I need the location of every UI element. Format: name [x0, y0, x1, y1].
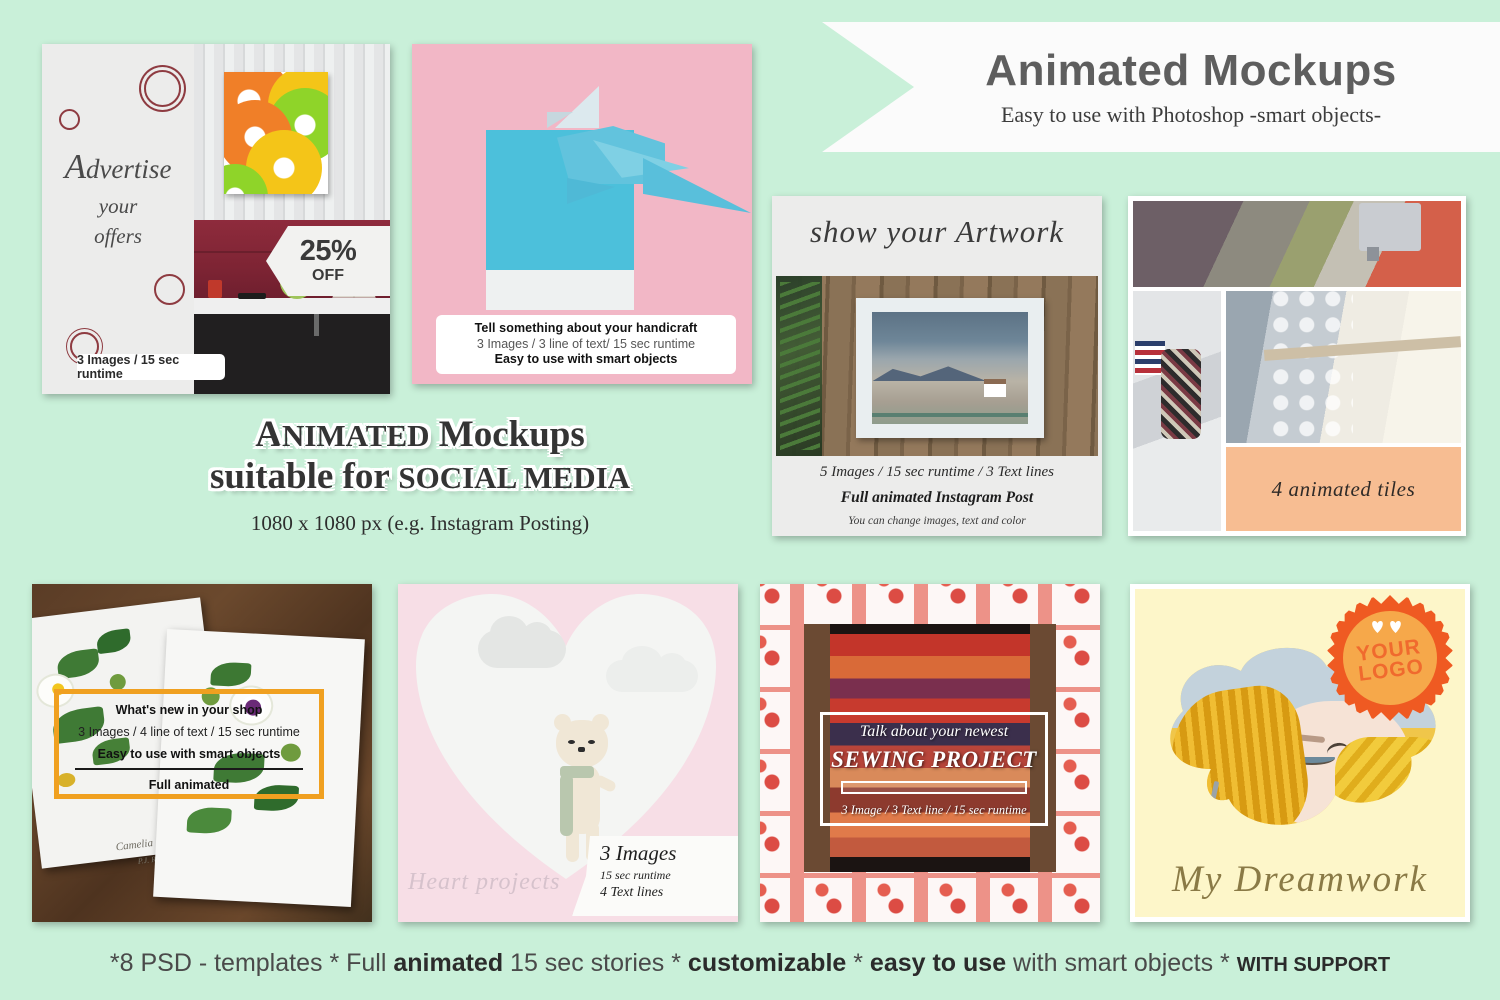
- mockup-card-show-artwork[interactable]: show your Artwork 5 Images / 15 sec runt…: [772, 196, 1102, 536]
- header-banner: Animated Mockups Easy to use with Photos…: [822, 22, 1500, 152]
- landscape-painting-image: [872, 312, 1028, 424]
- ring-decoration-icon: [59, 109, 80, 130]
- footer-part2: 15 sec stories *: [503, 949, 688, 977]
- card6-ribbon-line2: 15 sec runtime: [600, 868, 730, 883]
- discount-ribbon: 25% OFF: [266, 226, 390, 296]
- card6-ribbon-line1: 3 Images: [600, 841, 730, 866]
- card5-box-line3: Easy to use with smart objects: [59, 747, 319, 761]
- mockup-card-four-tiles[interactable]: 4 animated tiles: [1128, 196, 1466, 536]
- ring-decoration-icon: [154, 274, 185, 305]
- tile-label-panel: 4 animated tiles: [1226, 447, 1461, 531]
- card3-header-band: show your Artwork: [772, 196, 1102, 268]
- card5-box-line4: Full animated: [59, 778, 319, 792]
- cloud-plush-icon: [606, 660, 698, 692]
- card7-line2: SEWING PROJECT: [823, 747, 1045, 773]
- palm-frond-icon: [780, 282, 820, 450]
- card3-caption-line1: 5 Images / 15 sec runtime / 3 Text lines: [772, 464, 1102, 481]
- mockup-card-advertise-offers[interactable]: Advertise your offers 25% OFF 3 Images /…: [42, 44, 390, 394]
- wood-table-photo: [776, 276, 1098, 456]
- print-mat: [856, 298, 1044, 438]
- card5-text-box: What's new in your shop 3 Images / 4 lin…: [54, 689, 324, 799]
- mid-heading-block: ANIMATED Mockups suitable for SOCIAL MED…: [160, 416, 680, 536]
- card2-caption-line1: Tell something about your handicraft: [440, 321, 732, 335]
- card1-headline: Advertise your offers: [42, 142, 194, 251]
- tile-wedding-dress-photo: [1226, 291, 1461, 443]
- mid-heading-dimensions: 1080 x 1080 px (e.g. Instagram Posting): [160, 511, 680, 536]
- footer-bold-support: WITH SUPPORT: [1237, 954, 1390, 976]
- citrus-artwork-image: [224, 72, 328, 194]
- card4-tiles-label: 4 animated tiles: [1272, 477, 1416, 502]
- mockup-card-dreamwork[interactable]: YOUR LOGO My Dreamwork: [1130, 584, 1470, 922]
- card3-caption-line2: Full animated Instagram Post: [772, 489, 1102, 507]
- banner-title: Animated Mockups: [985, 46, 1396, 96]
- phone-icon: [238, 293, 266, 299]
- card1-photo: [194, 44, 390, 394]
- footer-bold-animated: animated: [393, 949, 503, 977]
- discount-off-label: OFF: [312, 266, 344, 285]
- card2-caption-line3: Easy to use with smart objects: [440, 352, 732, 366]
- mockup-card-heart-projects[interactable]: Heart projects 3 Images 15 sec runtime 4…: [398, 584, 738, 922]
- cloud-plush-icon: [478, 630, 566, 668]
- footer-features: *8 PSD - templates * Full animated 15 se…: [0, 949, 1500, 978]
- banner-subtitle: Easy to use with Photoshop -smart object…: [1001, 102, 1381, 128]
- discount-percent: 25%: [300, 237, 357, 266]
- card6-script-label: Heart projects: [408, 869, 560, 896]
- origami-bird-image: [547, 86, 747, 246]
- tile-sewing-machine-photo: [1133, 201, 1461, 287]
- counter-top: [194, 298, 390, 314]
- cup-icon: [208, 280, 222, 298]
- mockup-card-handicraft[interactable]: Tell something about your handicraft 3 I…: [412, 44, 752, 384]
- tile-pincushion-photo: [1133, 291, 1221, 531]
- knit-scarf: [1335, 737, 1449, 851]
- your-logo-badge[interactable]: YOUR LOGO: [1327, 595, 1453, 721]
- footer-bold-easy: easy to use: [870, 949, 1006, 977]
- card5-print-signature: Camelia: [115, 837, 153, 853]
- mid-heading-line2: suitable for SOCIAL MEDIA: [160, 458, 680, 496]
- card8-script-label: My Dreamwork: [1135, 858, 1465, 901]
- mockup-card-sewing-project[interactable]: Talk about your newest SEWING PROJECT 3 …: [760, 584, 1100, 922]
- card7-text-box: Talk about your newest SEWING PROJECT 3 …: [820, 712, 1048, 826]
- footer-part3: *: [846, 949, 870, 977]
- mockup-card-shop-news[interactable]: Camelia P.J. Redoute What's new in your …: [32, 584, 372, 922]
- table-leg: [314, 314, 319, 336]
- card7-line3: 3 Image / 3 Text line / 15 sec runtime: [823, 803, 1045, 818]
- card5-box-line2: 3 Images / 4 line of text / 15 sec runti…: [59, 725, 319, 739]
- card5-box-line1: What's new in your shop: [59, 703, 319, 717]
- card3-caption-line3: You can change images, text and color: [772, 515, 1102, 527]
- poster-canvas: Advertise your offers 25% OFF 3 Images /…: [0, 0, 1500, 1000]
- card7-placeholder-bar: [841, 781, 1027, 794]
- ring-decoration-icon: [144, 70, 181, 107]
- footer-bold-customizable: customizable: [688, 949, 846, 977]
- card6-ribbon-line3: 4 Text lines: [600, 885, 730, 901]
- card3-header-text: show your Artwork: [810, 214, 1064, 250]
- card6-ribbon: 3 Images 15 sec runtime 4 Text lines: [572, 836, 738, 916]
- mid-heading-line1: ANIMATED Mockups: [160, 416, 680, 454]
- card1-headline-line3: offers: [42, 222, 194, 252]
- card2-caption-box: Tell something about your handicraft 3 I…: [436, 315, 736, 374]
- footer-part4: with smart objects *: [1006, 949, 1237, 977]
- card7-line1: Talk about your newest: [823, 723, 1045, 741]
- footer-part1: *8 PSD - templates * Full: [110, 949, 393, 977]
- card3-captions: 5 Images / 15 sec runtime / 3 Text lines…: [772, 464, 1102, 527]
- card2-caption-line2: 3 Images / 3 line of text/ 15 sec runtim…: [440, 337, 732, 351]
- card1-headline-line1: Advertise: [42, 142, 194, 192]
- card1-runtime-pill: 3 Images / 15 sec runtime: [77, 354, 225, 380]
- white-paper-base: [486, 270, 634, 310]
- card1-headline-line2: your: [42, 192, 194, 222]
- card5-divider: [75, 768, 304, 770]
